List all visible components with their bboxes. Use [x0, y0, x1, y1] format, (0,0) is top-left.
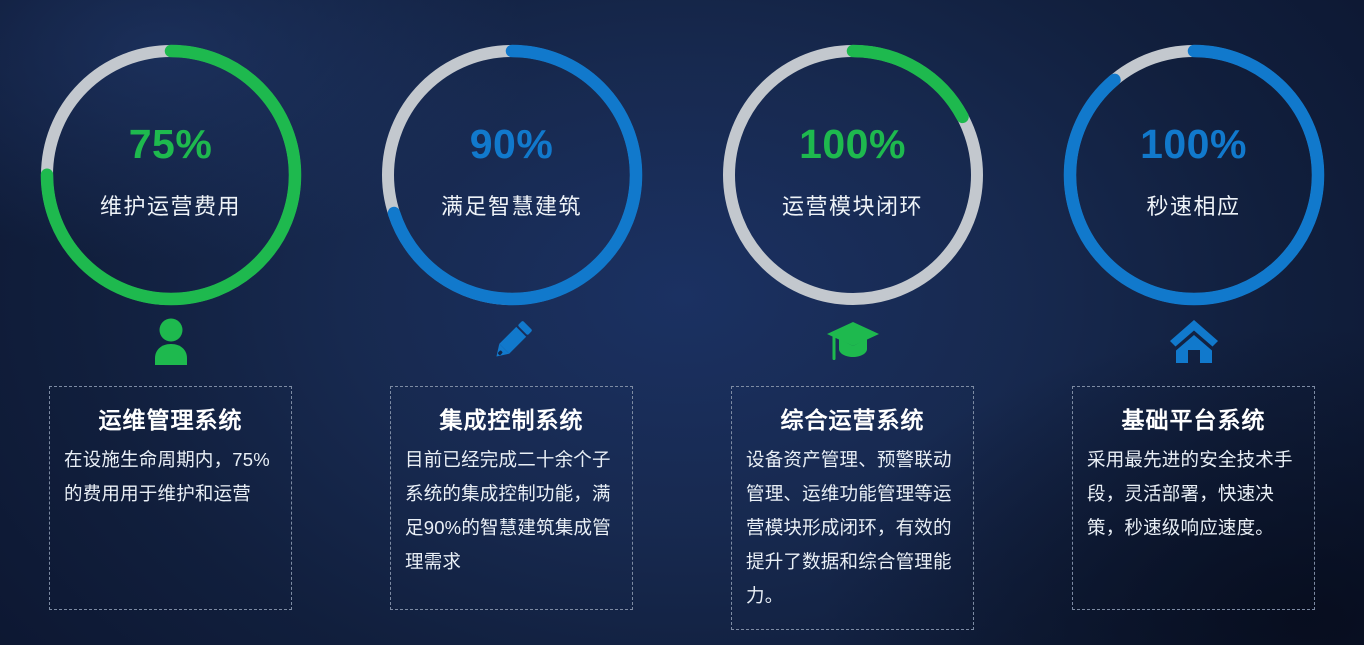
pencil-icon [488, 310, 536, 372]
ring-center-3: 100% 运营模块闭环 [722, 44, 984, 306]
progress-ring-4: 100% 秒速相应 [1063, 44, 1325, 306]
info-card-2: 集成控制系统 目前已经完成二十余个子系统的集成控制功能，满足90%的智慧建筑集成… [390, 386, 633, 610]
user-icon-glyph [148, 317, 194, 365]
progress-ring-3: 100% 运营模块闭环 [722, 44, 984, 306]
metric-column-1: 75% 维护运营费用 运维管理系统 在设施生命周期内，75%的费用用于维护和运营 [0, 0, 341, 645]
graduation-cap-icon-glyph [826, 319, 880, 363]
home-icon-glyph [1169, 318, 1219, 364]
metric-column-2: 90% 满足智慧建筑 集成控制系统 目前已经完成二十余个子系统的集成控制功能，满… [341, 0, 682, 645]
ring-percent-4: 100% [1140, 124, 1247, 165]
info-card-3: 综合运营系统 设备资产管理、预警联动管理、运维功能管理等运营模块形成闭环，有效的… [731, 386, 974, 630]
graduation-cap-icon [826, 310, 880, 372]
card-body-1: 在设施生命周期内，75%的费用用于维护和运营 [64, 443, 277, 511]
ring-caption-1: 维护运营费用 [100, 189, 241, 221]
home-icon [1169, 310, 1219, 372]
metric-column-3: 100% 运营模块闭环 综合运营系统 设备资产管理、预警联动管理、运维功能管理等… [682, 0, 1023, 645]
card-title-4: 基础平台系统 [1122, 401, 1266, 435]
card-body-4: 采用最先进的安全技术手段，灵活部署，快速决策，秒速级响应速度。 [1087, 443, 1300, 545]
info-card-1: 运维管理系统 在设施生命周期内，75%的费用用于维护和运营 [49, 386, 292, 610]
metric-column-4: 100% 秒速相应 基础平台系统 采用最先进的安全技术手段，灵活部署，快速决策，… [1023, 0, 1364, 645]
ring-center-1: 75% 维护运营费用 [40, 44, 302, 306]
infographic-stage: 75% 维护运营费用 运维管理系统 在设施生命周期内，75%的费用用于维护和运营 [0, 0, 1364, 645]
ring-percent-2: 90% [470, 124, 554, 165]
user-icon [148, 310, 194, 372]
ring-percent-1: 75% [129, 124, 213, 165]
card-title-1: 运维管理系统 [99, 401, 243, 435]
card-title-3: 综合运营系统 [781, 401, 925, 435]
ring-center-4: 100% 秒速相应 [1063, 44, 1325, 306]
info-card-4: 基础平台系统 采用最先进的安全技术手段，灵活部署，快速决策，秒速级响应速度。 [1072, 386, 1315, 610]
card-body-2: 目前已经完成二十余个子系统的集成控制功能，满足90%的智慧建筑集成管理需求 [405, 443, 618, 579]
card-title-2: 集成控制系统 [440, 401, 584, 435]
progress-ring-2: 90% 满足智慧建筑 [381, 44, 643, 306]
pencil-icon-glyph [488, 317, 536, 365]
progress-ring-1: 75% 维护运营费用 [40, 44, 302, 306]
card-body-3: 设备资产管理、预警联动管理、运维功能管理等运营模块形成闭环，有效的提升了数据和综… [746, 443, 959, 613]
metric-columns: 75% 维护运营费用 运维管理系统 在设施生命周期内，75%的费用用于维护和运营 [0, 0, 1364, 645]
ring-caption-2: 满足智慧建筑 [441, 189, 582, 221]
ring-center-2: 90% 满足智慧建筑 [381, 44, 643, 306]
ring-caption-3: 运营模块闭环 [782, 189, 923, 221]
ring-percent-3: 100% [799, 124, 906, 165]
ring-caption-4: 秒速相应 [1146, 189, 1240, 221]
